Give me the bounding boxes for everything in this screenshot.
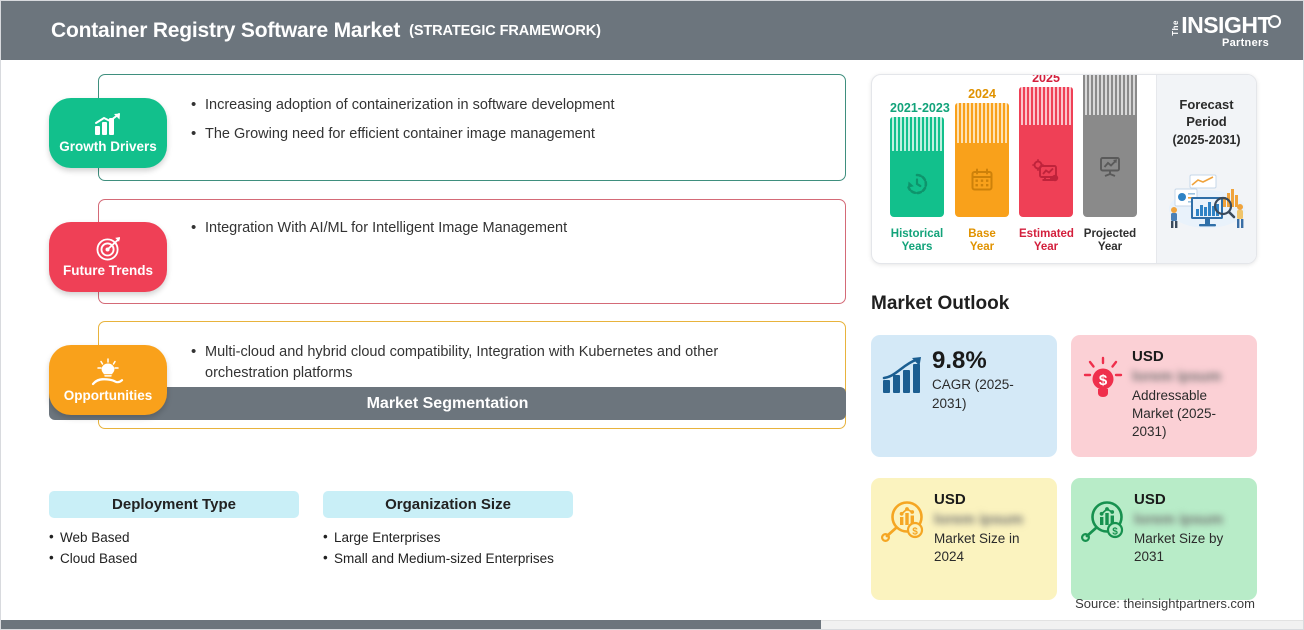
- bar-chart-arrow-icon: [93, 112, 123, 137]
- forecast-title-line2: Period: [1186, 114, 1226, 129]
- forecast-title-line1: Forecast: [1179, 97, 1233, 112]
- bar-caption-line1: Projected: [1084, 228, 1136, 240]
- svg-text:$: $: [912, 527, 918, 538]
- segment-header-deployment-type: Deployment Type: [49, 491, 299, 518]
- magnifier-chart-dollar-icon: $: [1081, 499, 1127, 548]
- future-trends-bullets: Integration With AI/ML for Intelligent I…: [191, 218, 831, 239]
- badge-future-trends[interactable]: Future Trends: [49, 222, 167, 292]
- page-subtitle: (STRATEGIC FRAMEWORK): [409, 23, 601, 39]
- outlook-card-market-size-2031[interactable]: $ USD lorem ipsum Market Size by 2031: [1071, 478, 1257, 600]
- bar-caption-line1: Base: [968, 228, 996, 240]
- logo-circle-icon: [1268, 15, 1281, 28]
- growth-drivers-bullets: Increasing adoption of containerization …: [191, 95, 831, 145]
- bar-historical: [890, 117, 944, 217]
- market-segmentation-title: Market Segmentation: [49, 387, 846, 420]
- logo-partners-text: Partners: [1222, 38, 1269, 49]
- target-dartboard-icon: [95, 236, 122, 261]
- badge-label: Growth Drivers: [59, 139, 157, 154]
- list-item: Large Enterprises: [323, 528, 653, 549]
- person-left: [1171, 207, 1177, 228]
- bar-projected: [1083, 74, 1137, 217]
- gear-analytics-icon: [1032, 158, 1060, 184]
- forecast-period-title: Forecast Period: [1179, 97, 1233, 131]
- dashboard-analytics-illustration: [1161, 169, 1253, 231]
- infographic-page: Container Registry Software Market (STRA…: [0, 0, 1304, 630]
- bar-year-label: 2025: [1019, 74, 1073, 85]
- scrollbar-thumb[interactable]: [1, 620, 821, 629]
- svg-text:$: $: [1112, 527, 1118, 538]
- bar-caption-line2: Year: [970, 241, 994, 253]
- segment-header-organization-size: Organization Size: [323, 491, 573, 518]
- usd-label: USD: [934, 491, 1045, 508]
- list-item: Small and Medium-sized Enterprises: [323, 549, 653, 570]
- bullet-item: Increasing adoption of containerization …: [191, 95, 831, 116]
- market-size-2031-label: Market Size by 2031: [1134, 530, 1245, 566]
- list-item: Cloud Based: [49, 549, 299, 570]
- badge-opportunities[interactable]: Opportunities: [49, 345, 167, 415]
- segment-list-organization-size: Large Enterprises Small and Medium-sized…: [323, 528, 653, 570]
- blurred-value: lorem ipsum: [1134, 511, 1245, 528]
- market-size-2024-label: Market Size in 2024: [934, 530, 1045, 566]
- monitor-chart-icon: [1096, 153, 1124, 179]
- lightbulb-hand-icon: [91, 358, 125, 386]
- timeline-bars: 2021-2023 Historical Years: [872, 75, 1157, 264]
- bar-base: [955, 103, 1009, 217]
- usd-label: USD: [1134, 491, 1245, 508]
- forecast-timeline-card: 2021-2023 Historical Years: [871, 74, 1257, 264]
- insight-partners-logo: The INSIGHT Partners: [1151, 11, 1281, 51]
- badge-label: Opportunities: [64, 388, 153, 403]
- bar-caption-line2: Year: [1034, 241, 1058, 253]
- bar-caption-line2: Year: [1098, 241, 1122, 253]
- bar-caption-line1: Historical: [891, 228, 943, 240]
- blurred-value: lorem ipsum: [934, 511, 1045, 528]
- blurred-value: lorem ipsum: [1132, 368, 1245, 385]
- calendar-icon: [969, 167, 995, 193]
- addressable-market-label: Addressable Market (2025-2031): [1132, 387, 1245, 442]
- usd-label: USD: [1132, 348, 1245, 365]
- svg-text:$: $: [1099, 372, 1108, 389]
- cagr-value: 9.8%: [932, 348, 1045, 374]
- cagr-label: CAGR (2025-2031): [932, 376, 1045, 412]
- page-title: Container Registry Software Market: [51, 19, 400, 43]
- bar-estimated: [1019, 87, 1073, 217]
- bar-caption-line2: Years: [902, 241, 933, 253]
- outlook-card-cagr[interactable]: 9.8% CAGR (2025-2031): [871, 335, 1057, 457]
- outlook-card-market-size-2024[interactable]: $ USD lorem ipsum Market Size in 2024: [871, 478, 1057, 600]
- bullet-item: Integration With AI/ML for Intelligent I…: [191, 218, 831, 239]
- list-item: Web Based: [49, 528, 299, 549]
- bullet-item: Multi-cloud and hybrid cloud compatibili…: [191, 342, 771, 384]
- bullet-item: The Growing need for efficient container…: [191, 124, 831, 145]
- source-text: Source: theinsightpartners.com: [1075, 596, 1255, 611]
- bar-year-label: 2021-2023: [890, 101, 944, 115]
- logo-insight-text: INSIGHT: [1181, 14, 1271, 37]
- market-outlook-title: Market Outlook: [871, 293, 1009, 315]
- forecast-period-range: (2025-2031): [1172, 133, 1240, 147]
- horizontal-scrollbar[interactable]: [1, 620, 1304, 629]
- future-trends-box: [98, 199, 846, 304]
- lightbulb-dollar-icon: $: [1081, 356, 1125, 407]
- bar-year-label: 2024: [955, 87, 1009, 101]
- opportunities-bullets: Multi-cloud and hybrid cloud compatibili…: [191, 342, 771, 384]
- magnifier-chart-dollar-icon: $: [881, 499, 927, 548]
- growth-bar-chart-icon: [881, 356, 925, 401]
- person-right: [1237, 204, 1243, 228]
- badge-growth-drivers[interactable]: Growth Drivers: [49, 98, 167, 168]
- forecast-period-panel: Forecast Period (2025-2031): [1156, 75, 1256, 264]
- logo-the-text: The: [1172, 20, 1180, 36]
- page-header: Container Registry Software Market (STRA…: [1, 1, 1304, 60]
- history-clock-icon: [904, 171, 930, 197]
- segment-list-deployment-type: Web Based Cloud Based: [49, 528, 299, 570]
- bar-caption-line1: Estimated: [1019, 228, 1074, 240]
- outlook-card-addressable-market[interactable]: $ USD lorem ipsum Addressable Market (20…: [1071, 335, 1257, 457]
- badge-label: Future Trends: [63, 263, 153, 278]
